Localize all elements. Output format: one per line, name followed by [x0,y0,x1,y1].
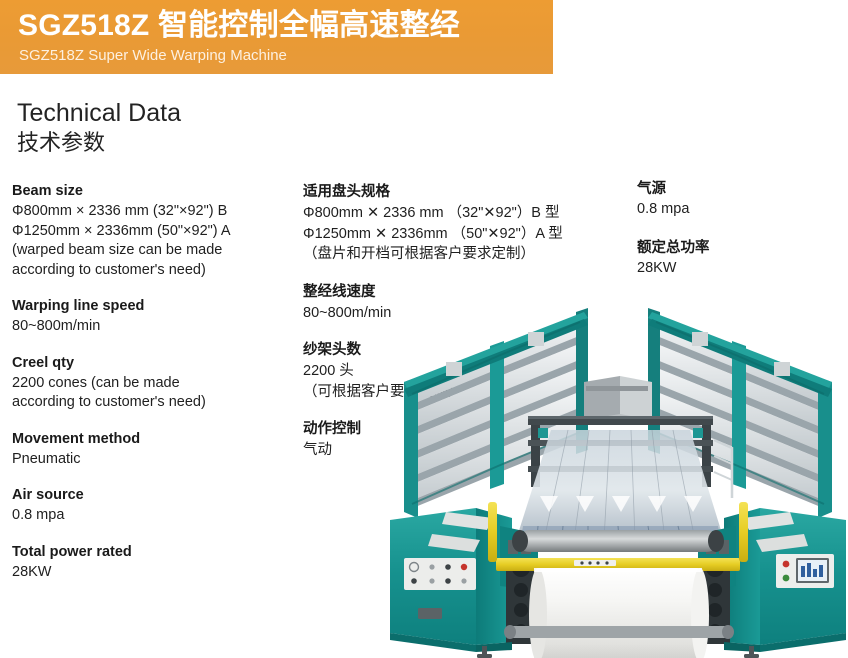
left-control-panel[interactable] [404,558,476,590]
spec-cn-value: Φ800mm ✕ 2336 mm （32"✕92"）B 型Φ1250mm ✕ 2… [303,203,628,265]
spec-en-value: 0.8 mpa [12,506,297,526]
spec-cn-value-line: Φ800mm ✕ 2336 mm （32"✕92"）B 型 [303,203,628,224]
spec-cn-value-line: （盘片和开档可根据客户要求定制） [303,244,628,265]
spec-en-value-line: Φ800mm × 2336 mm (32"×92") B [12,202,297,222]
spec-en-value: Pneumatic [12,450,297,470]
spec-en-value: Φ800mm × 2336 mm (32"×92") BΦ1250mm × 23… [12,202,297,280]
spec-sheet-page: SGZ518Z 智能控制全幅高速整经 SGZ518Z Super Wide Wa… [0,0,848,658]
right-yellow-post [739,502,748,562]
nameplate [418,608,442,619]
right-control-panel[interactable] [776,554,834,588]
spec-cn-value-line: Φ1250mm ✕ 2336mm （50"✕92"）A 型 [303,224,628,245]
spec-cn-side-label: 气源 [637,180,837,199]
spec-en-value-line: 80~800m/min [12,317,297,337]
spec-en-label: Beam size [12,182,297,201]
spec-cn-side-value: 28KW [637,259,837,279]
spec-en-value: 28KW [12,563,297,583]
spec-cn-side-value-line: 28KW [637,259,837,279]
spec-en-value-line: Φ1250mm × 2336mm (50"×92") A [12,222,297,242]
left-yellow-post [488,502,497,562]
section-title-cn: 技术参数 [17,128,417,158]
warp-beam-roll [534,568,702,658]
product-subtitle: SGZ518Z Super Wide Warping Machine [19,46,287,65]
spec-en-value-line: according to customer's need) [12,261,297,281]
spec-en-value: 2200 cones (can be madeaccording to cust… [12,374,297,413]
power-button-icon [783,561,790,568]
spec-column-chinese-side: 气源0.8 mpa额定总功率28KW [637,180,837,297]
spec-cn-side-item: 气源0.8 mpa [637,180,837,220]
spec-cn-side-item: 额定总功率28KW [637,239,837,279]
spec-en-label: Air source [12,486,297,505]
spec-en-label: Creel qty [12,354,297,373]
spec-en-item: Total power rated28KW [12,543,297,583]
section-title: Technical Data 技术参数 [17,98,417,158]
spec-en-label: Warping line speed [12,297,297,316]
spec-cn-side-value-line: 0.8 mpa [637,200,837,220]
spec-cn-side-label: 额定总功率 [637,239,837,258]
spec-en-item: Creel qty2200 cones (can be madeaccordin… [12,354,297,413]
start-button-icon [783,575,790,582]
spec-en-item: Air source0.8 mpa [12,486,297,526]
header-banner: SGZ518Z 智能控制全幅高速整经 SGZ518Z Super Wide Wa… [0,0,553,74]
spec-en-item: Warping line speed80~800m/min [12,297,297,337]
spec-en-value-line: 0.8 mpa [12,506,297,526]
spec-en-value-line: (warped beam size can be made [12,241,297,261]
warp-sheet [516,430,724,540]
measuring-roller [518,530,718,552]
spec-en-value-line: Pneumatic [12,450,297,470]
machine-illustration [388,290,848,658]
spec-en-value: 80~800m/min [12,317,297,337]
section-title-en: Technical Data [17,98,417,128]
spec-column-english: Beam sizeΦ800mm × 2336 mm (32"×92") BΦ12… [12,182,297,582]
spec-en-value-line: according to customer's need) [12,393,297,413]
spec-en-value-line: 2200 cones (can be made [12,374,297,394]
spec-en-item: Beam sizeΦ800mm × 2336 mm (32"×92") BΦ12… [12,182,297,280]
creel-centre-console [584,376,652,420]
spec-en-label: Total power rated [12,543,297,562]
spec-en-label: Movement method [12,430,297,449]
spec-cn-side-value: 0.8 mpa [637,200,837,220]
spec-cn-label: 适用盘头规格 [303,182,628,202]
spec-cn-item: 适用盘头规格Φ800mm ✕ 2336 mm （32"✕92"）B 型Φ1250… [303,182,628,265]
spec-en-item: Movement methodPneumatic [12,430,297,470]
emergency-stop-icon [461,564,467,570]
machine-photo [388,290,848,658]
product-title: SGZ518Z 智能控制全幅高速整经 [18,8,460,44]
spec-en-value-line: 28KW [12,563,297,583]
